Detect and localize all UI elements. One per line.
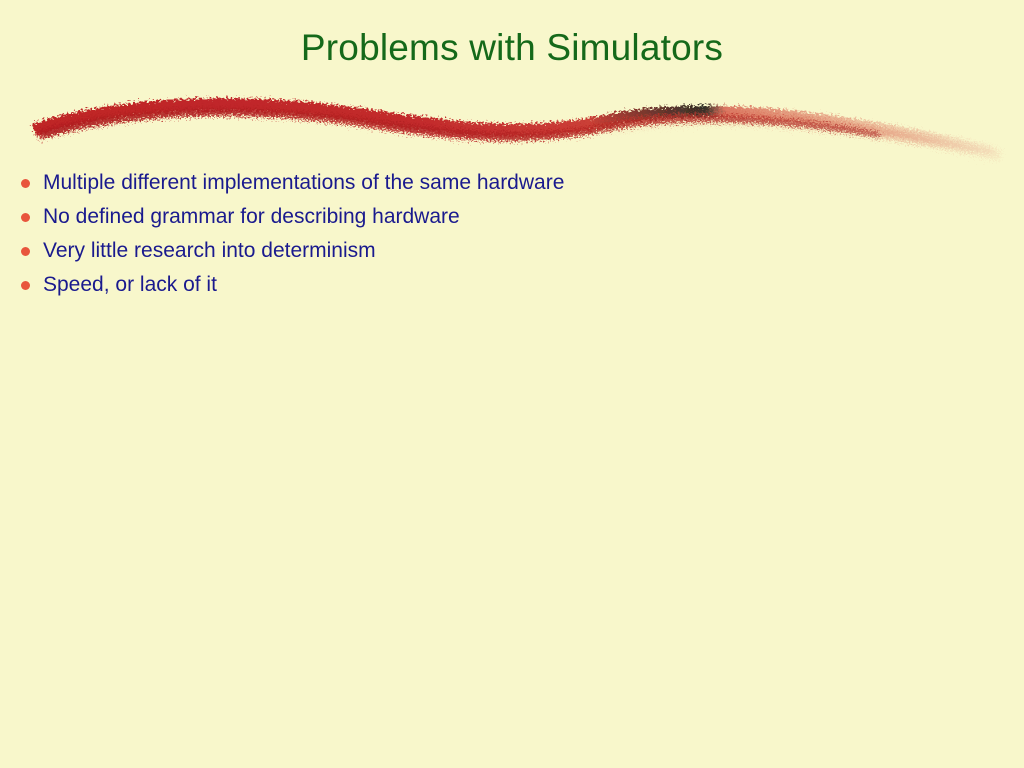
bullet-dot-icon [21,213,30,222]
list-item-label: Speed, or lack of it [43,273,217,296]
bullet-dot-icon [21,179,30,188]
list-item: Very little research into determinism [0,234,1024,268]
presentation-slide: Problems with Simulators [0,0,1024,768]
list-item-label: No defined grammar for describing hardwa… [43,205,460,228]
slide-title: Problems with Simulators [0,28,1024,69]
list-item-label: Very little research into determinism [43,239,376,262]
list-item-label: Multiple different implementations of th… [43,171,564,194]
brush-stroke-graphic [0,80,1024,166]
list-item: Speed, or lack of it [0,268,1024,302]
list-item: No defined grammar for describing hardwa… [0,200,1024,234]
brush-stroke-divider [0,80,1024,166]
bullet-dot-icon [21,281,30,290]
bullet-dot-icon [21,247,30,256]
list-item: Multiple different implementations of th… [0,166,1024,200]
bullet-list: Multiple different implementations of th… [0,166,1024,302]
